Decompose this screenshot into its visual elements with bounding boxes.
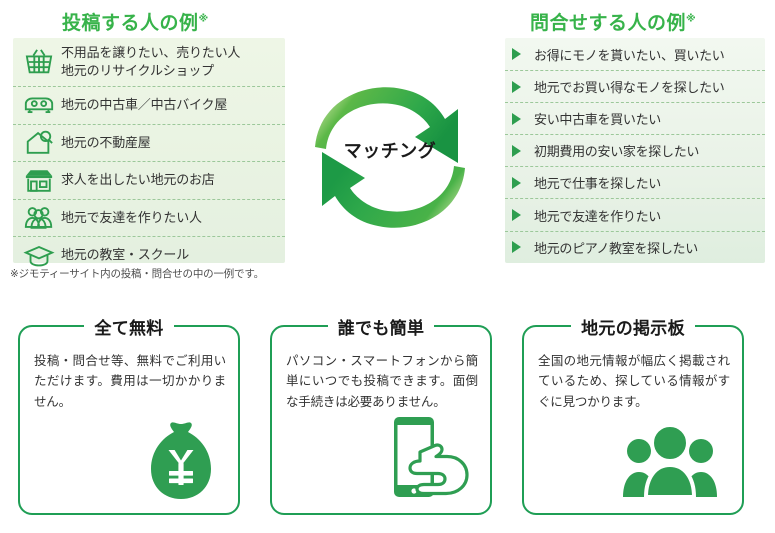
cycle-arrow-bottom — [322, 152, 465, 228]
left-column-heading: 投稿する人の例※ — [62, 8, 209, 35]
house-search-icon — [21, 128, 57, 158]
list-item-label: お得にモノを貰いたい、買いたい — [534, 45, 725, 64]
list-item: お得にモノを貰いたい、買いたい — [505, 38, 765, 70]
list-item-label: 地元で友達を作りたい人 — [61, 209, 202, 227]
triangle-bullet-icon — [512, 241, 530, 253]
feature-card-body: 投稿・問合せ等、無料でご利用いただけます。費用は一切かかりません。 — [34, 351, 226, 412]
right-column-heading-text: 問合せする人の例 — [530, 13, 686, 34]
money-bag-yen-icon — [138, 419, 224, 505]
right-column-heading-mark: ※ — [686, 14, 696, 25]
triangle-bullet-icon — [512, 113, 530, 125]
poster-examples-panel: 不用品を譲りたい、売りたい人 地元のリサイクルショップ 地元の中古車／中古バイク… — [13, 38, 285, 263]
inquiry-examples-panel: お得にモノを貰いたい、買いたい 地元でお買い得なモノを探したい 安い中古車を買い… — [505, 38, 765, 263]
left-column-heading-text: 投稿する人の例 — [62, 13, 199, 34]
footnote: ※ジモティーサイト内の投稿・問合せの中の一例です。 — [10, 266, 264, 281]
smartphone-tap-icon — [380, 411, 472, 503]
feature-card-board: 地元の掲示板 全国の地元情報が幅広く掲載されているため、探している情報がすぐに見… — [522, 325, 744, 515]
list-item: 初期費用の安い家を探したい — [505, 134, 765, 166]
feature-card-title: 地元の掲示板 — [571, 319, 695, 338]
list-item-label: 不用品を譲りたい、売りたい人 地元のリサイクルショップ — [61, 44, 240, 79]
feature-card-free: 全て無料 投稿・問合せ等、無料でご利用いただけます。費用は一切かかりません。 — [18, 325, 240, 515]
feature-card-body: 全国の地元情報が幅広く掲載されているため、探している情報がすぐに見つかります。 — [538, 351, 730, 412]
list-item: 地元の不動産屋 — [13, 124, 285, 162]
matching-label: マッチング — [295, 137, 485, 163]
list-item-label: 地元でお買い得なモノを探したい — [534, 77, 725, 96]
list-item-label: 初期費用の安い家を探したい — [534, 141, 699, 160]
list-item: 地元で仕事を探したい — [505, 166, 765, 198]
people-group-icon — [622, 425, 718, 499]
feature-card-title-wrap: 全て無料 — [20, 314, 238, 339]
list-item: 不用品を譲りたい、売りたい人 地元のリサイクルショップ — [13, 38, 285, 86]
list-item: 安い中古車を買いたい — [505, 102, 765, 134]
left-column-heading-mark: ※ — [199, 14, 209, 25]
triangle-bullet-icon — [512, 48, 530, 60]
feature-card-title-wrap: 地元の掲示板 — [524, 314, 742, 339]
feature-card-title: 誰でも簡単 — [328, 319, 435, 338]
matching-cycle: マッチング — [295, 75, 485, 240]
list-item-label: 地元の中古車／中古バイク屋 — [61, 96, 227, 114]
list-item-label: 地元の教室・スクール — [61, 246, 189, 264]
basket-icon — [21, 47, 57, 77]
list-item: 地元のピアノ教室を探したい — [505, 231, 765, 263]
triangle-bullet-icon — [512, 81, 530, 93]
feature-card-title-wrap: 誰でも簡単 — [272, 314, 490, 339]
list-item-label: 求人を出したい地元のお店 — [61, 171, 215, 189]
list-item-label: 安い中古車を買いたい — [534, 109, 661, 128]
list-item-label: 地元の不動産屋 — [61, 134, 151, 152]
list-item-label: 地元で仕事を探したい — [534, 173, 661, 192]
feature-card-easy: 誰でも簡単 パソコン・スマートフォンから簡単にいつでも投稿できます。面倒な手続き… — [270, 325, 492, 515]
list-item: 求人を出したい地元のお店 — [13, 161, 285, 199]
list-item: 地元でお買い得なモノを探したい — [505, 70, 765, 102]
list-item: 地元で友達を作りたい人 — [13, 199, 285, 237]
right-column-heading: 問合せする人の例※ — [530, 8, 696, 35]
shop-icon — [21, 165, 57, 195]
list-item: 地元で友達を作りたい — [505, 198, 765, 230]
car-icon — [21, 90, 57, 120]
list-item-label: 地元で友達を作りたい — [534, 206, 661, 225]
triangle-bullet-icon — [512, 177, 530, 189]
list-item-label: 地元のピアノ教室を探したい — [534, 238, 698, 257]
feature-card-body: パソコン・スマートフォンから簡単にいつでも投稿できます。面倒な手続きは必要ありま… — [286, 351, 478, 412]
triangle-bullet-icon — [512, 209, 530, 221]
infographic-root: 投稿する人の例※ 不用品を譲りたい、売りたい人 地元のリサイクルショップ — [0, 0, 775, 533]
list-item: 地元の中古車／中古バイク屋 — [13, 86, 285, 124]
feature-card-title: 全て無料 — [84, 319, 173, 338]
people-icon — [21, 203, 57, 233]
triangle-bullet-icon — [512, 145, 530, 157]
